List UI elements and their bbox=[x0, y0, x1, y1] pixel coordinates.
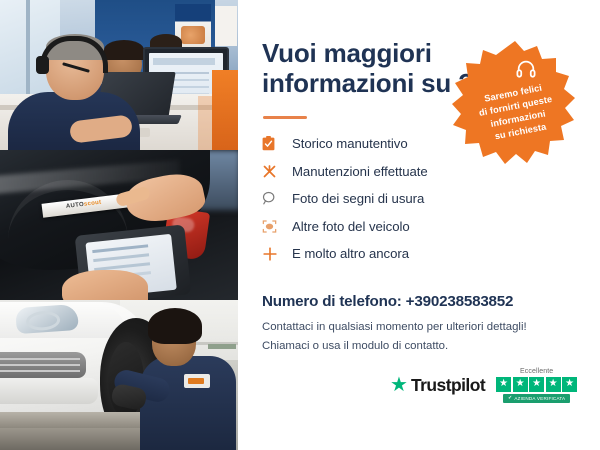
orange-object-secondary bbox=[198, 96, 212, 150]
garage-shelf-rail bbox=[208, 344, 236, 349]
contact-instructions-line-1: Contattaci in qualsiasi momento per ulte… bbox=[262, 318, 582, 337]
contact-instructions: Contattaci in qualsiasi momento per ulte… bbox=[262, 318, 582, 356]
photo-column: AUTOscout bbox=[0, 0, 238, 450]
photo-call-center-agents-with-headsets bbox=[0, 0, 238, 150]
photo-technician-measuring-car-body-with-tablet: AUTOscout bbox=[0, 150, 238, 300]
car-grille bbox=[0, 352, 86, 378]
uniform-badge bbox=[184, 374, 210, 388]
trustpilot-logo: ★ Trustpilot bbox=[390, 375, 485, 396]
feature-item-label: Foto dei segni di usura bbox=[292, 191, 424, 206]
content-panel: Vuoi maggiori informazioni su ? Saremo f… bbox=[238, 0, 600, 450]
technician-hair bbox=[148, 308, 202, 344]
title-underline-rule bbox=[263, 116, 307, 119]
contact-instructions-line-2: Chiamaci o usa il modulo di contatto. bbox=[262, 337, 582, 356]
feature-item-label: Altre foto del veicolo bbox=[292, 219, 410, 234]
verified-business-badge: ✓ AZIENDA VERIFICATA bbox=[503, 394, 570, 403]
verified-check-icon: ✓ bbox=[508, 395, 512, 401]
rating-star: ★ bbox=[496, 377, 511, 392]
orange-object bbox=[212, 70, 238, 150]
plus-icon bbox=[262, 246, 292, 262]
trustpilot-star-rating: ★ ★ ★ ★ ★ bbox=[496, 377, 577, 392]
trustpilot-star-icon: ★ bbox=[390, 375, 408, 395]
agent-headset-earcup bbox=[36, 56, 49, 74]
feature-item-altre-foto-veicolo: Altre foto del veicolo bbox=[262, 213, 552, 241]
phone-line: Numero di telefono: +390238583852 bbox=[262, 293, 513, 310]
person-middle-hair bbox=[104, 40, 144, 60]
scan-frame-icon bbox=[262, 219, 292, 234]
feature-item-manutenzioni-effettuate: Manutenzioni effettuate bbox=[262, 158, 552, 186]
wall-document bbox=[215, 6, 237, 46]
feature-list: Storico manutentivo Manutenzioni effettu… bbox=[262, 130, 552, 268]
magnifier-icon bbox=[262, 191, 292, 206]
rating-star: ★ bbox=[562, 377, 577, 392]
technician-body bbox=[140, 356, 236, 450]
car-headlight bbox=[15, 304, 79, 334]
tools-cross-icon bbox=[262, 164, 292, 179]
advertisement-card: AUTOscout bbox=[0, 0, 600, 450]
feature-item-label: Manutenzioni effettuate bbox=[292, 164, 428, 179]
strip-logo: AUTOscout bbox=[66, 200, 102, 210]
photo-technician-inspecting-wheel-on-lift bbox=[0, 300, 238, 450]
phone-label: Numero di telefono: bbox=[262, 293, 402, 310]
feature-item-label: E molto altro ancora bbox=[292, 246, 409, 261]
trustpilot-rating: Eccellente ★ ★ ★ ★ ★ ✓ AZIENDA VERIFICAT… bbox=[496, 368, 577, 403]
trustpilot-widget[interactable]: ★ Trustpilot Eccellente ★ ★ ★ ★ ★ ✓ AZIE… bbox=[390, 368, 577, 403]
trustpilot-wordmark: Trustpilot bbox=[411, 375, 485, 396]
feature-item-label: Storico manutentivo bbox=[292, 136, 408, 151]
feature-item-foto-segni-usura: Foto dei segni di usura bbox=[262, 185, 552, 213]
hand-lower bbox=[62, 270, 148, 300]
trustpilot-rating-label: Eccellente bbox=[520, 368, 553, 375]
phone-number[interactable]: +390238583852 bbox=[406, 293, 514, 310]
lift-base bbox=[0, 428, 150, 450]
lift-platform bbox=[0, 412, 150, 428]
verified-badge-label: AZIENDA VERIFICATA bbox=[514, 396, 565, 401]
feature-item-storico-manutentivo: Storico manutentivo bbox=[262, 130, 552, 158]
clipboard-check-icon bbox=[262, 136, 292, 151]
car-bumper bbox=[0, 378, 98, 404]
feature-item-molto-altro: E molto altro ancora bbox=[262, 240, 552, 268]
rating-star: ★ bbox=[529, 377, 544, 392]
rating-star: ★ bbox=[546, 377, 561, 392]
rating-star: ★ bbox=[513, 377, 528, 392]
